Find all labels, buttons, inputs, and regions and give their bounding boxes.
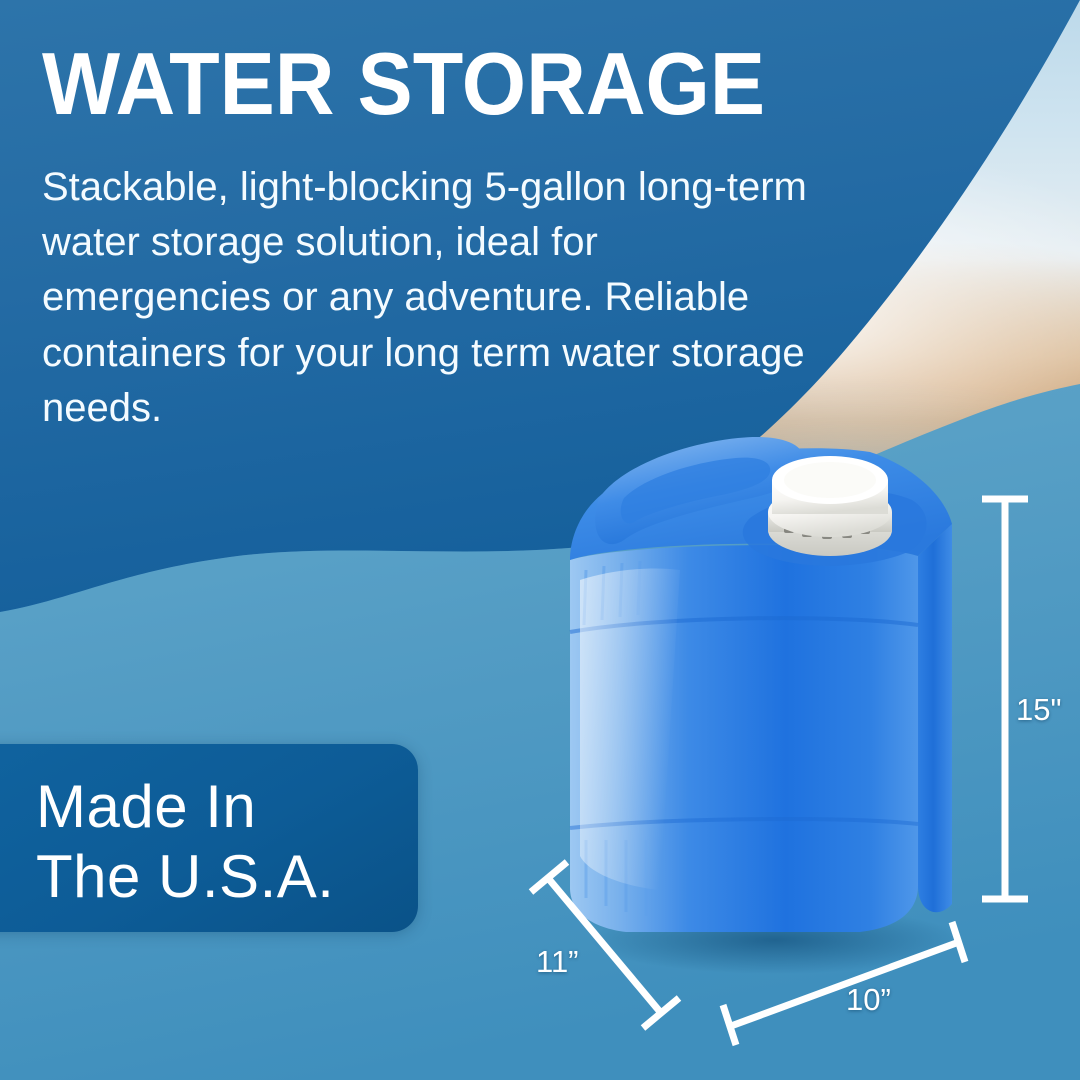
dimension-annotations bbox=[0, 0, 1080, 1080]
dimension-label-depth: 11” bbox=[536, 944, 579, 980]
dimension-cap-depth-top bbox=[531, 862, 567, 892]
dimension-label-width: 10” bbox=[846, 982, 891, 1018]
dimension-label-height: 15" bbox=[1016, 692, 1062, 728]
dimension-line-width bbox=[731, 942, 959, 1026]
product-graphic-canvas: WATER STORAGE Stackable, light-blocking … bbox=[0, 0, 1080, 1080]
